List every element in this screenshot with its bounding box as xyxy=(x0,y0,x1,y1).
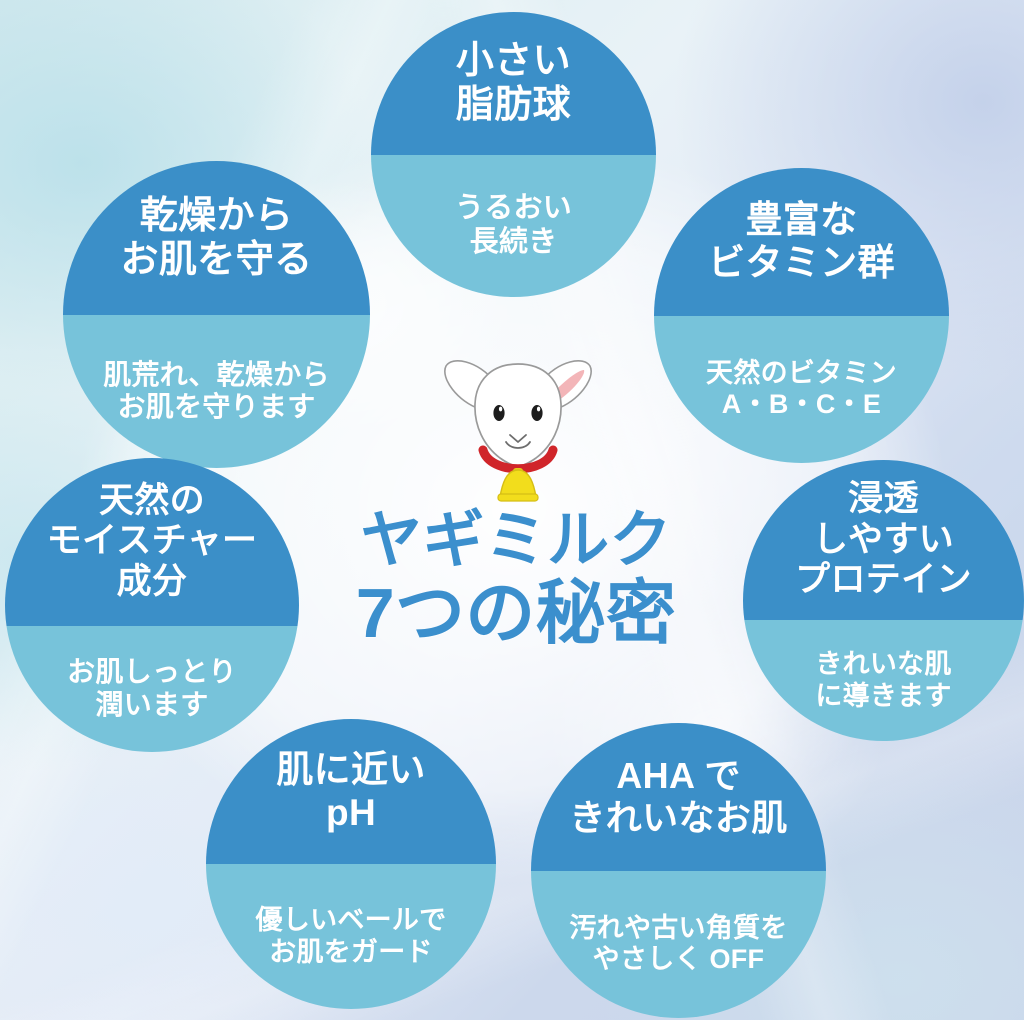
bubble-heading-line: ビタミン群 xyxy=(708,242,895,285)
bubble-caption-line: 長続き xyxy=(470,226,558,260)
page-title: ヤギミルク 7つの秘密 xyxy=(316,508,716,650)
bubble-caption-line: お肌しっとり xyxy=(67,656,237,688)
bubble-caption-line: 優しいベールで xyxy=(256,905,447,936)
bubble-heading-line: 乾燥から xyxy=(140,194,294,238)
bubble-small-fat-globules[interactable]: 小さい 脂肪球 うるおい 長続き xyxy=(371,12,656,297)
bubble-natural-moisture[interactable]: 天然の モイスチャー 成分 お肌しっとり 潤います xyxy=(5,458,299,752)
bubble-heading-line: 脂肪球 xyxy=(456,83,571,127)
bubble-caption-line: に導きます xyxy=(815,681,951,712)
bubble-caption-line: やさしく OFF xyxy=(593,944,765,975)
bubble-heading-line: 天然の xyxy=(99,481,205,522)
bubble-caption-line: 肌荒れ、乾燥から xyxy=(103,359,330,391)
goat-head-icon xyxy=(432,342,604,512)
bubble-absorbable-protein[interactable]: 浸透 しやすい プロテイン きれいな肌 に導きます xyxy=(743,460,1024,741)
bubble-heading-line: 小さい xyxy=(456,39,571,83)
bubble-caption-line: A・B・C・E xyxy=(722,389,881,420)
page-title-line-1: ヤギミルク xyxy=(316,508,716,574)
bubble-skin-friendly-ph[interactable]: 肌に近い pH 優しいベールで お肌をガード xyxy=(206,719,496,1009)
goat-head-mascot xyxy=(432,342,604,512)
bubble-aha-clean-skin[interactable]: AHA で きれいなお肌 汚れや古い角質を やさしく OFF xyxy=(531,723,826,1018)
bubble-heading-line: しやすい xyxy=(813,520,954,561)
bubble-rich-vitamins[interactable]: 豊富な ビタミン群 天然のビタミン A・B・C・E xyxy=(654,168,949,463)
bubble-heading-line: プロテイン xyxy=(795,560,972,601)
bubble-caption-line: きれいな肌 xyxy=(815,649,951,680)
bubble-heading-line: pH xyxy=(326,792,376,835)
bubble-heading-line: きれいなお肌 xyxy=(569,797,787,839)
infographic-canvas: 小さい 脂肪球 うるおい 長続き 乾燥から お肌を守る 肌荒れ、乾燥から お肌を… xyxy=(0,0,1024,1020)
bubble-heading-line: 成分 xyxy=(117,562,188,603)
bubble-caption-line: うるおい xyxy=(455,192,572,226)
bubble-heading-line: 肌に近い xyxy=(276,749,425,792)
page-title-line-2: 7つの秘密 xyxy=(316,576,716,650)
bubble-protect-from-dryness[interactable]: 乾燥から お肌を守る 肌荒れ、乾燥から お肌を守ります xyxy=(63,161,370,468)
bubble-heading-line: お肌を守る xyxy=(121,238,313,282)
bubble-caption-line: 潤います xyxy=(95,689,208,721)
bubble-caption-line: 汚れや古い角質を xyxy=(569,913,787,944)
bubble-heading-line: AHA で xyxy=(616,755,740,797)
bubble-heading-line: 浸透 xyxy=(848,479,919,520)
bubble-caption-line: 天然のビタミン xyxy=(706,358,897,389)
bubble-caption-line: お肌を守ります xyxy=(118,391,316,423)
bubble-caption-line: お肌をガード xyxy=(269,937,433,968)
bubble-heading-line: モイスチャー xyxy=(47,521,258,562)
bubble-heading-line: 豊富な xyxy=(745,199,857,242)
